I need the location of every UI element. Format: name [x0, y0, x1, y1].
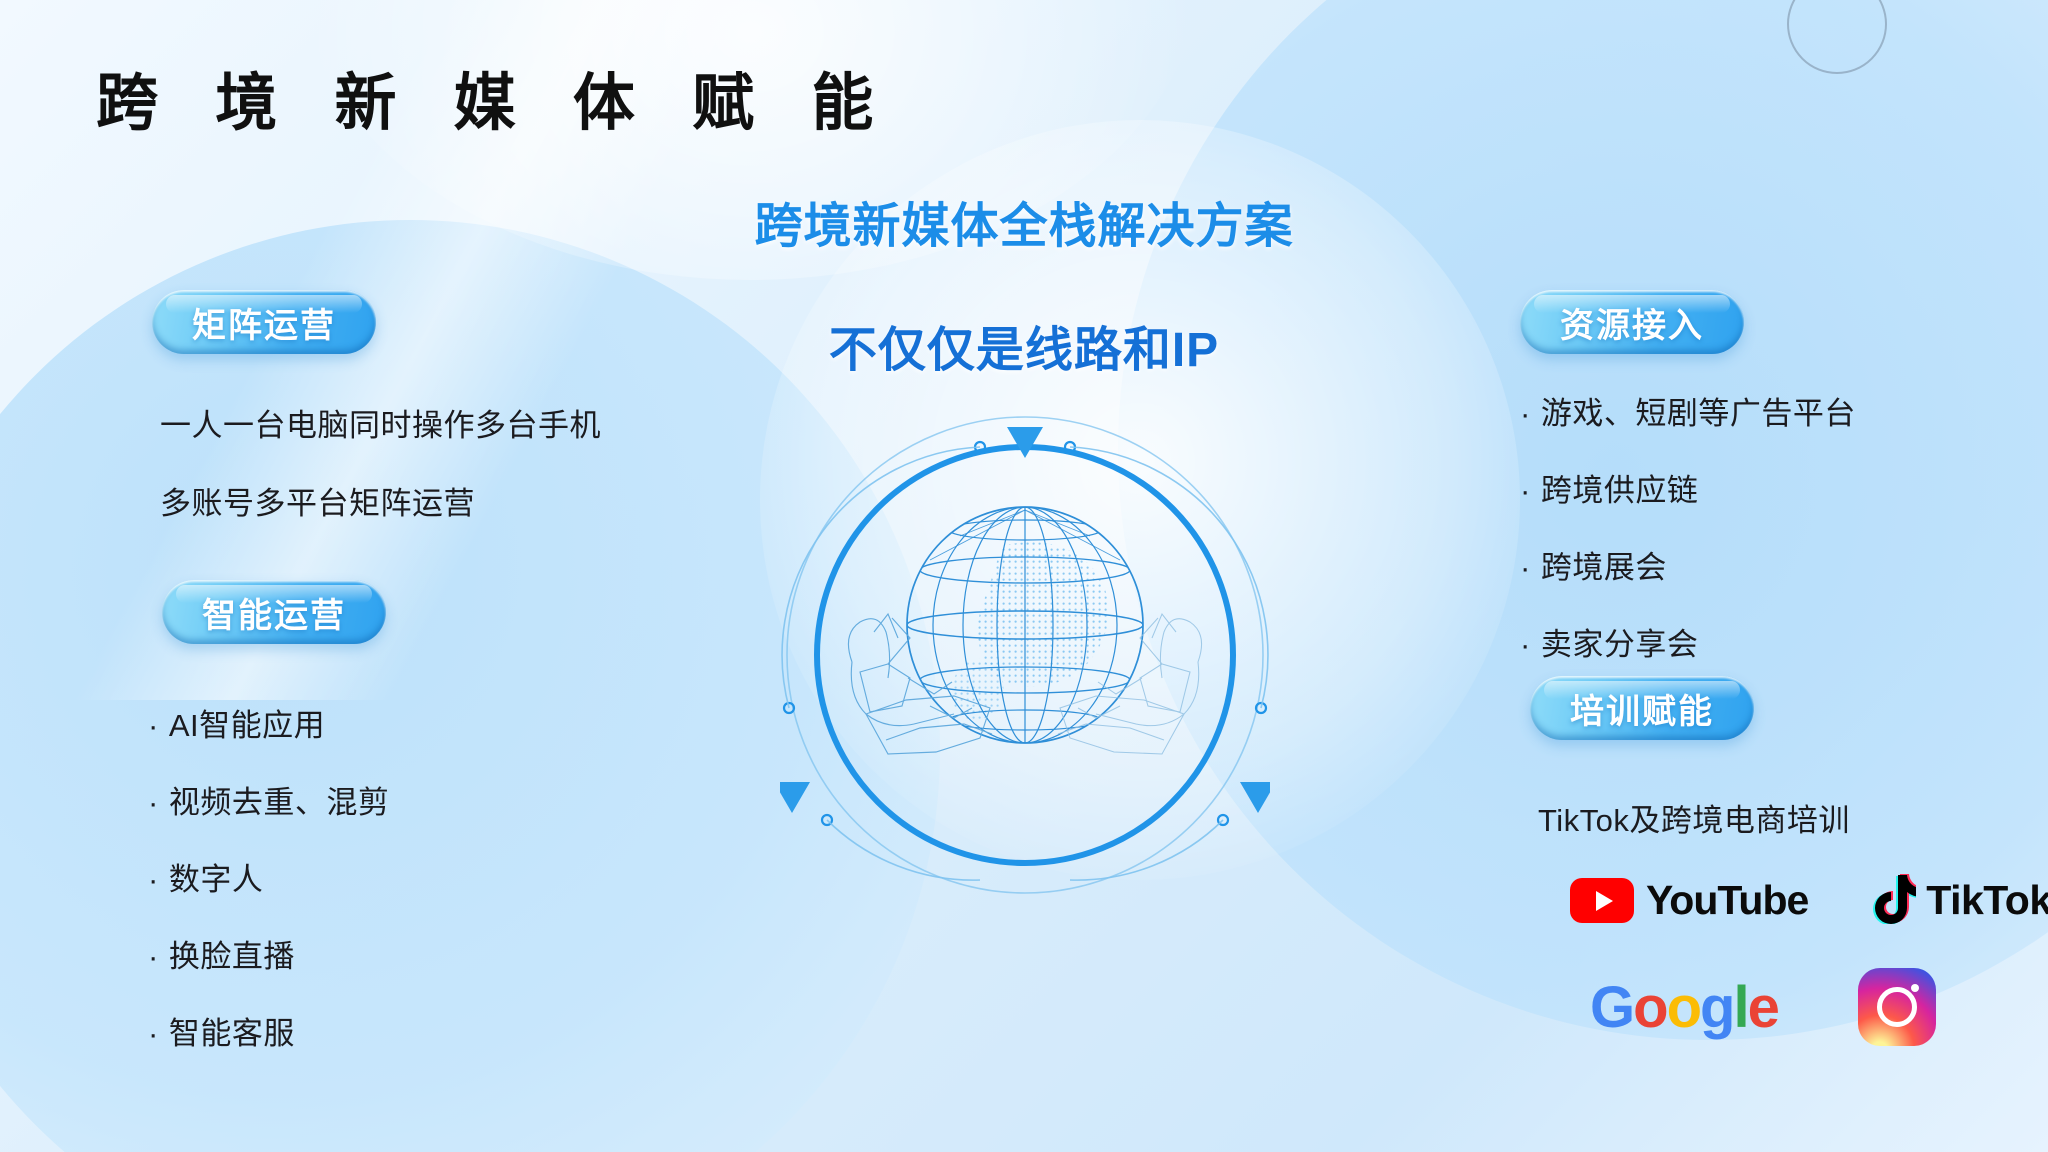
bullet-icon: · — [1520, 550, 1531, 585]
tiktok-logo[interactable]: TikTok — [1870, 872, 2048, 929]
youtube-logo[interactable]: YouTube — [1570, 877, 1808, 924]
list-item: ·视频去重、混剪 — [148, 777, 389, 822]
bullet-icon: · — [148, 785, 159, 820]
bullet-icon: · — [148, 939, 159, 974]
left-bullet-list: ·AI智能应用 ·视频去重、混剪 ·数字人 ·换脸直播 ·智能客服 — [148, 700, 389, 1085]
right-bullet-list: ·游戏、短剧等广告平台 ·跨境供应链 ·跨境展会 ·卖家分享会 — [1520, 388, 1856, 696]
bullet-icon: · — [148, 862, 159, 897]
decorative-ring-icon — [1787, 0, 1887, 74]
instagram-logo[interactable] — [1858, 968, 1936, 1046]
list-item: ·跨境展会 — [1520, 542, 1856, 587]
list-item: ·AI智能应用 — [148, 700, 389, 745]
list-item-label: 数字人 — [169, 862, 264, 897]
youtube-play-icon — [1570, 878, 1634, 923]
list-item-label: 换脸直播 — [169, 939, 295, 974]
list-item-label: 跨境供应链 — [1541, 473, 1699, 508]
page-title: 跨 境 新 媒 体 赋 能 — [96, 52, 893, 142]
pill-label: 矩阵运营 — [192, 298, 336, 347]
list-item-label: 视频去重、混剪 — [169, 785, 390, 820]
globe-in-hands-icon — [780, 410, 1270, 900]
tiktok-logo-label: TikTok — [1926, 877, 2048, 924]
instagram-lens-icon — [1877, 987, 1917, 1027]
pill-smart-operations[interactable]: 智能运营 — [162, 580, 386, 644]
slide-root: 跨 境 新 媒 体 赋 能 跨境新媒体全栈解决方案 不仅仅是线路和IP 矩阵运营… — [0, 0, 2048, 1152]
tiktok-note-icon — [1870, 872, 1916, 929]
instagram-dot-icon — [1911, 984, 1919, 992]
list-item: ·数字人 — [148, 854, 389, 899]
list-item-label: AI智能应用 — [169, 708, 325, 743]
list-item-label: 游戏、短剧等广告平台 — [1541, 396, 1856, 431]
google-logo[interactable]: Google — [1590, 974, 1778, 1041]
logo-row-secondary: Google — [1590, 968, 1936, 1046]
pill-training-empowerment[interactable]: 培训赋能 — [1530, 676, 1754, 740]
pill-matrix-operations[interactable]: 矩阵运营 — [152, 290, 376, 354]
right-training-text: TikTok及跨境电商培训 — [1538, 795, 1850, 840]
bullet-icon: · — [1520, 473, 1531, 508]
pill-label: 智能运营 — [202, 588, 346, 637]
list-item-label: 智能客服 — [169, 1016, 295, 1051]
list-item: ·游戏、短剧等广告平台 — [1520, 388, 1856, 433]
list-item: ·智能客服 — [148, 1008, 389, 1053]
bullet-icon: · — [1520, 627, 1531, 662]
pill-resource-access[interactable]: 资源接入 — [1520, 290, 1744, 354]
bullet-icon: · — [148, 708, 159, 743]
list-item-label: 卖家分享会 — [1541, 627, 1699, 662]
left-text-line-2: 多账号多平台矩阵运营 — [160, 478, 475, 523]
logo-row-primary: YouTube TikTok — [1570, 872, 2048, 929]
bullet-icon: · — [148, 1016, 159, 1051]
pill-label: 培训赋能 — [1570, 684, 1714, 733]
list-item: ·换脸直播 — [148, 931, 389, 976]
list-item: ·卖家分享会 — [1520, 619, 1856, 664]
left-text-line-1: 一人一台电脑同时操作多台手机 — [160, 400, 601, 445]
bullet-icon: · — [1520, 396, 1531, 431]
list-item-label: 跨境展会 — [1541, 550, 1667, 585]
center-heading-primary: 跨境新媒体全栈解决方案 — [0, 186, 2048, 256]
pill-label: 资源接入 — [1560, 298, 1704, 347]
list-item: ·跨境供应链 — [1520, 465, 1856, 510]
youtube-logo-label: YouTube — [1646, 877, 1808, 924]
